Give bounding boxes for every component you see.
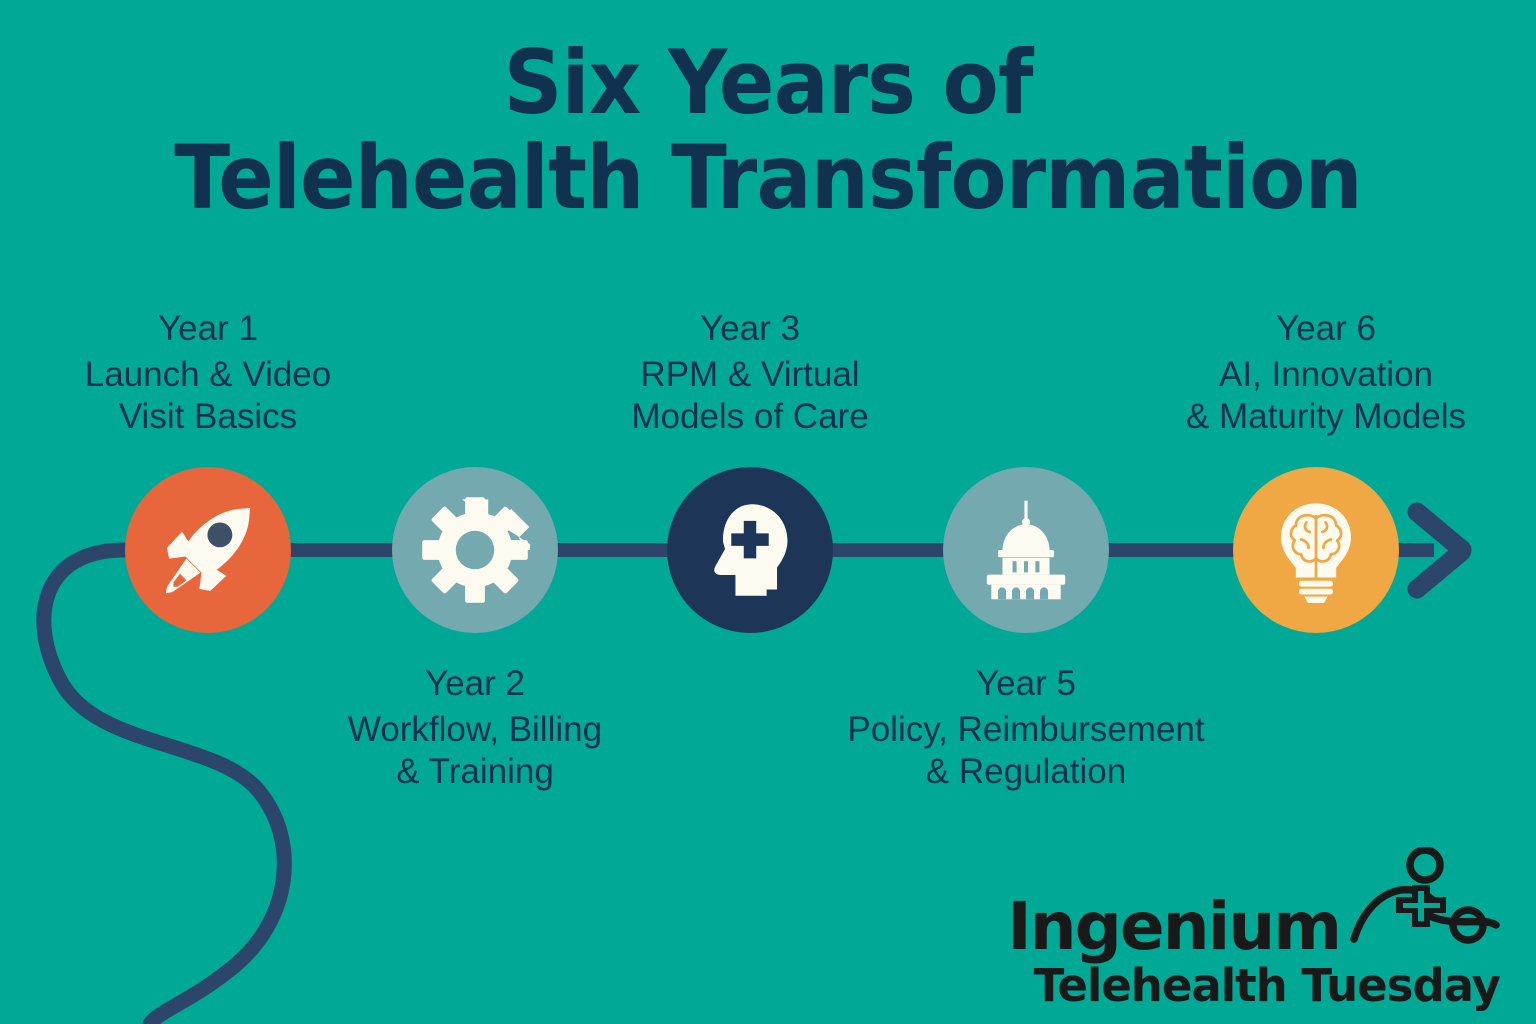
connector-1-2 bbox=[285, 543, 400, 557]
logo-wordmark: Ingenium bbox=[1007, 896, 1340, 959]
rocket-icon bbox=[154, 496, 262, 604]
milestone-desc-year-6: AI, Innovation & Maturity Models bbox=[1128, 354, 1524, 437]
milestone-year-year-6: Year 6 bbox=[1128, 308, 1524, 349]
milestone-year-year-1: Year 1 bbox=[30, 308, 386, 349]
title-line-1: Six Years of bbox=[54, 38, 1482, 129]
head-medical-icon bbox=[698, 498, 802, 602]
infographic-canvas: Six Years of Telehealth Transformation bbox=[0, 0, 1536, 1024]
logo-top-row: Ingenium bbox=[1007, 847, 1500, 959]
milestone-label-year-5: Year 5 Policy, Reimbursement & Regulatio… bbox=[818, 663, 1234, 792]
connector-5-arrow bbox=[1396, 543, 1434, 557]
connector-2-3 bbox=[556, 543, 674, 557]
milestone-label-year-6: Year 6 AI, Innovation & Maturity Models bbox=[1128, 308, 1524, 437]
milestone-label-year-1: Year 1 Launch & Video Visit Basics bbox=[30, 308, 386, 437]
milestone-year-year-3: Year 3 bbox=[572, 308, 928, 349]
title-line-2: Telehealth Transformation bbox=[54, 133, 1482, 224]
milestone-year-year-5: Year 5 bbox=[818, 663, 1234, 704]
timeline-arrow-icon bbox=[1417, 512, 1462, 589]
milestone-node-year-1[interactable] bbox=[125, 467, 291, 633]
lightbulb-brain-icon bbox=[1263, 497, 1369, 603]
milestone-year-year-2: Year 2 bbox=[296, 663, 654, 704]
ingenium-logo-mark-icon bbox=[1350, 847, 1500, 955]
milestone-desc-year-3: RPM & Virtual Models of Care bbox=[572, 354, 928, 437]
milestone-node-year-3[interactable] bbox=[667, 467, 833, 633]
page-title: Six Years of Telehealth Transformation bbox=[0, 38, 1536, 223]
gear-icon bbox=[420, 495, 530, 605]
milestone-label-year-3: Year 3 RPM & Virtual Models of Care bbox=[572, 308, 928, 437]
milestone-desc-year-2: Workflow, Billing & Training bbox=[296, 709, 654, 792]
milestone-node-year-2[interactable] bbox=[392, 467, 558, 633]
logo-tagline: Telehealth Tuesday bbox=[1007, 963, 1500, 1008]
capitol-building-icon bbox=[970, 494, 1082, 606]
milestone-node-year-5[interactable] bbox=[943, 467, 1109, 633]
milestone-node-year-6[interactable] bbox=[1233, 467, 1399, 633]
milestone-desc-year-1: Launch & Video Visit Basics bbox=[30, 354, 386, 437]
connector-3-4 bbox=[832, 543, 947, 557]
connector-4-5 bbox=[1108, 543, 1236, 557]
ingenium-logo[interactable]: Ingenium Tele bbox=[1007, 847, 1500, 1008]
milestone-desc-year-5: Policy, Reimbursement & Regulation bbox=[818, 709, 1234, 792]
milestone-label-year-2: Year 2 Workflow, Billing & Training bbox=[296, 663, 654, 792]
